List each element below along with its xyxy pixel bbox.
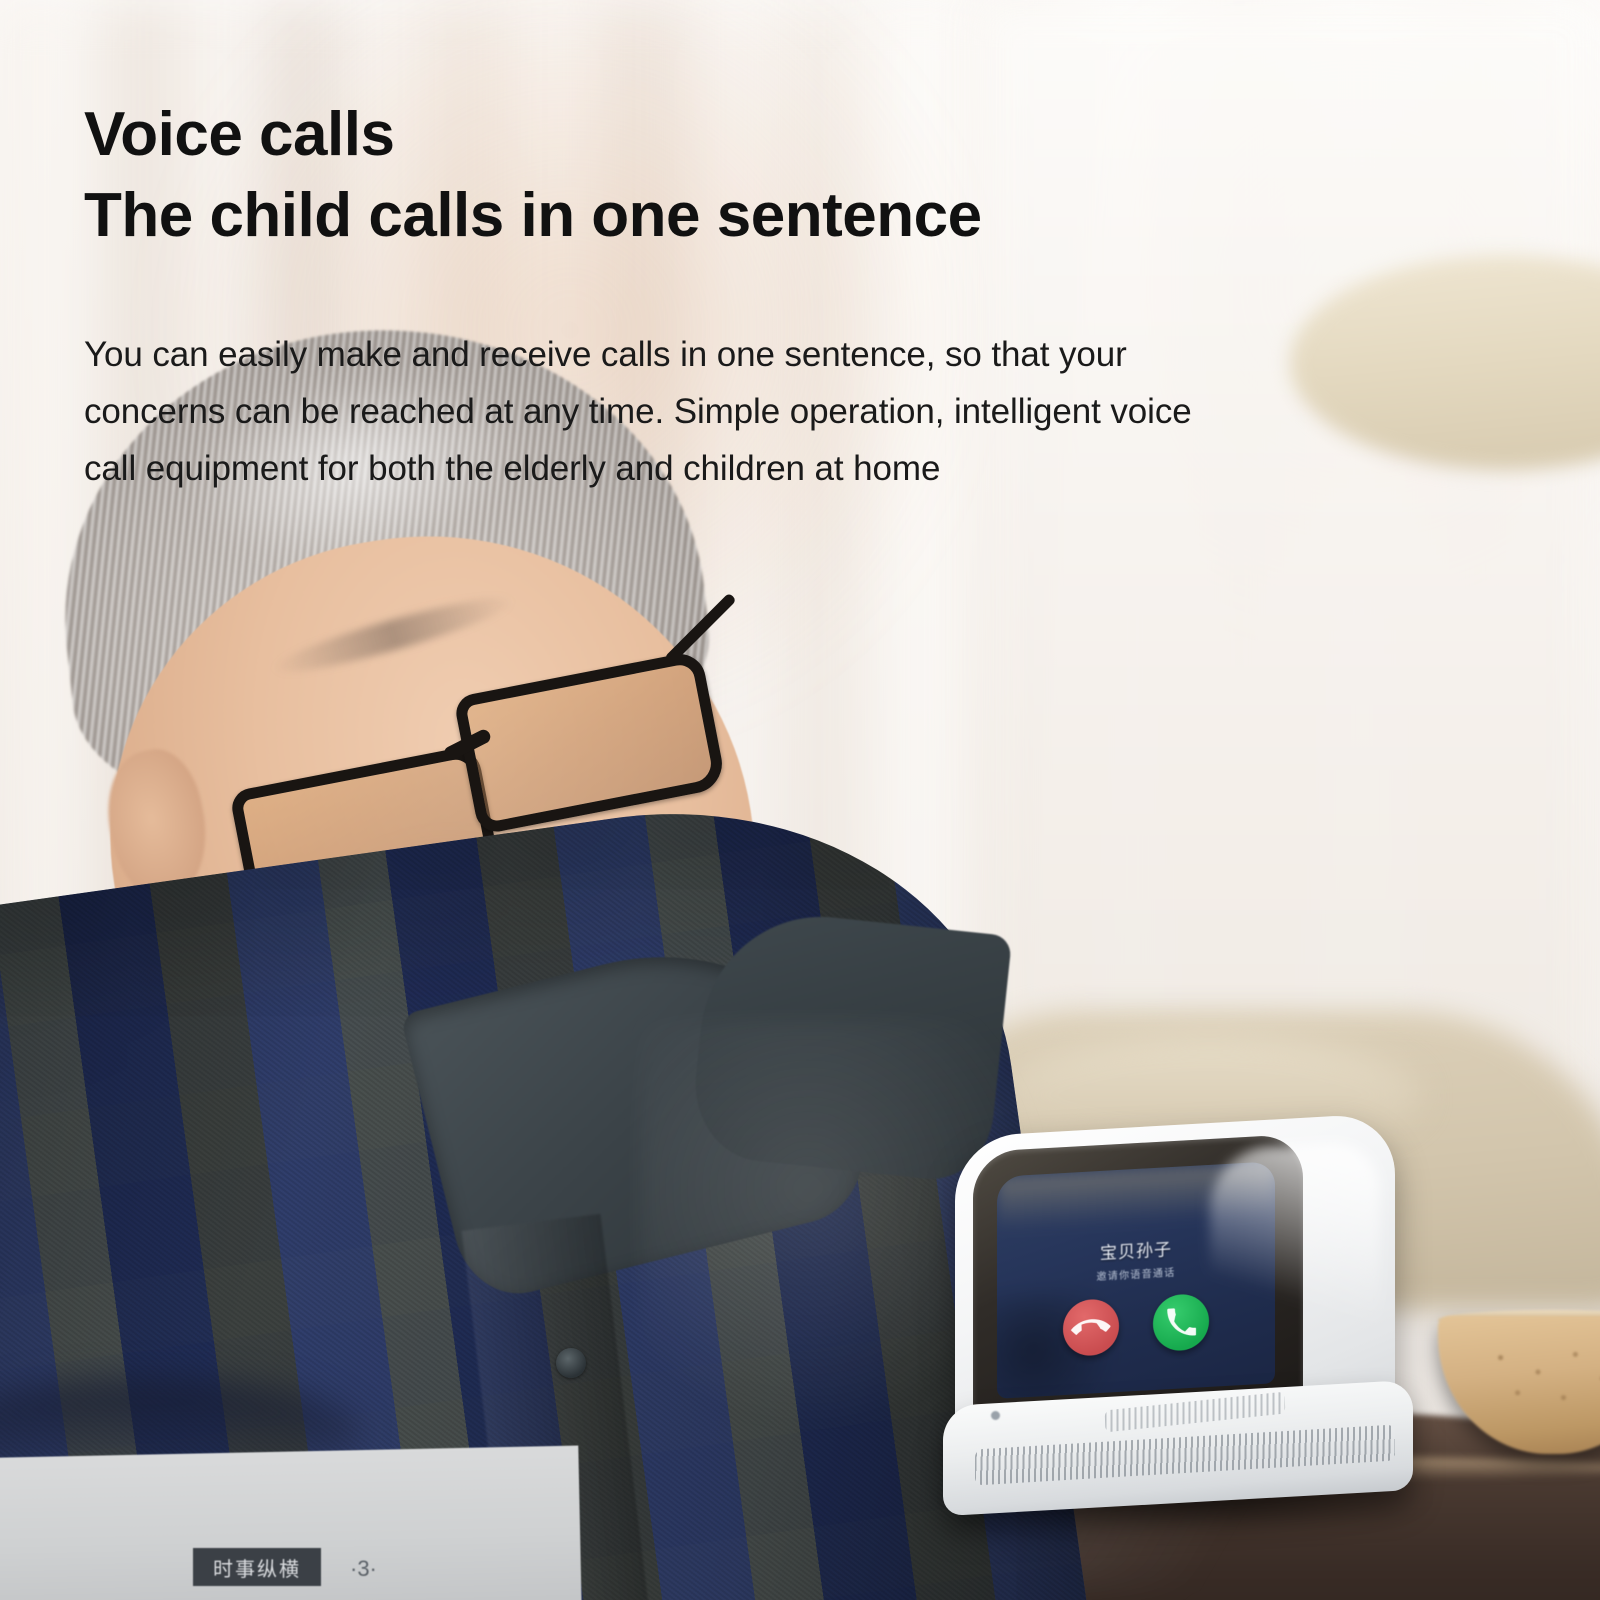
marketing-copy-overlay: Voice calls The child calls in one sente… — [0, 0, 1600, 1600]
headline-primary: Voice calls — [84, 94, 394, 176]
body-paragraph: You can easily make and receive calls in… — [84, 326, 1208, 497]
headline-secondary: The child calls in one sentence — [84, 180, 982, 251]
promo-image-canvas: 时事纵横 ·3· 宝贝孙子 邀请你语音通话 — [0, 0, 1600, 1600]
